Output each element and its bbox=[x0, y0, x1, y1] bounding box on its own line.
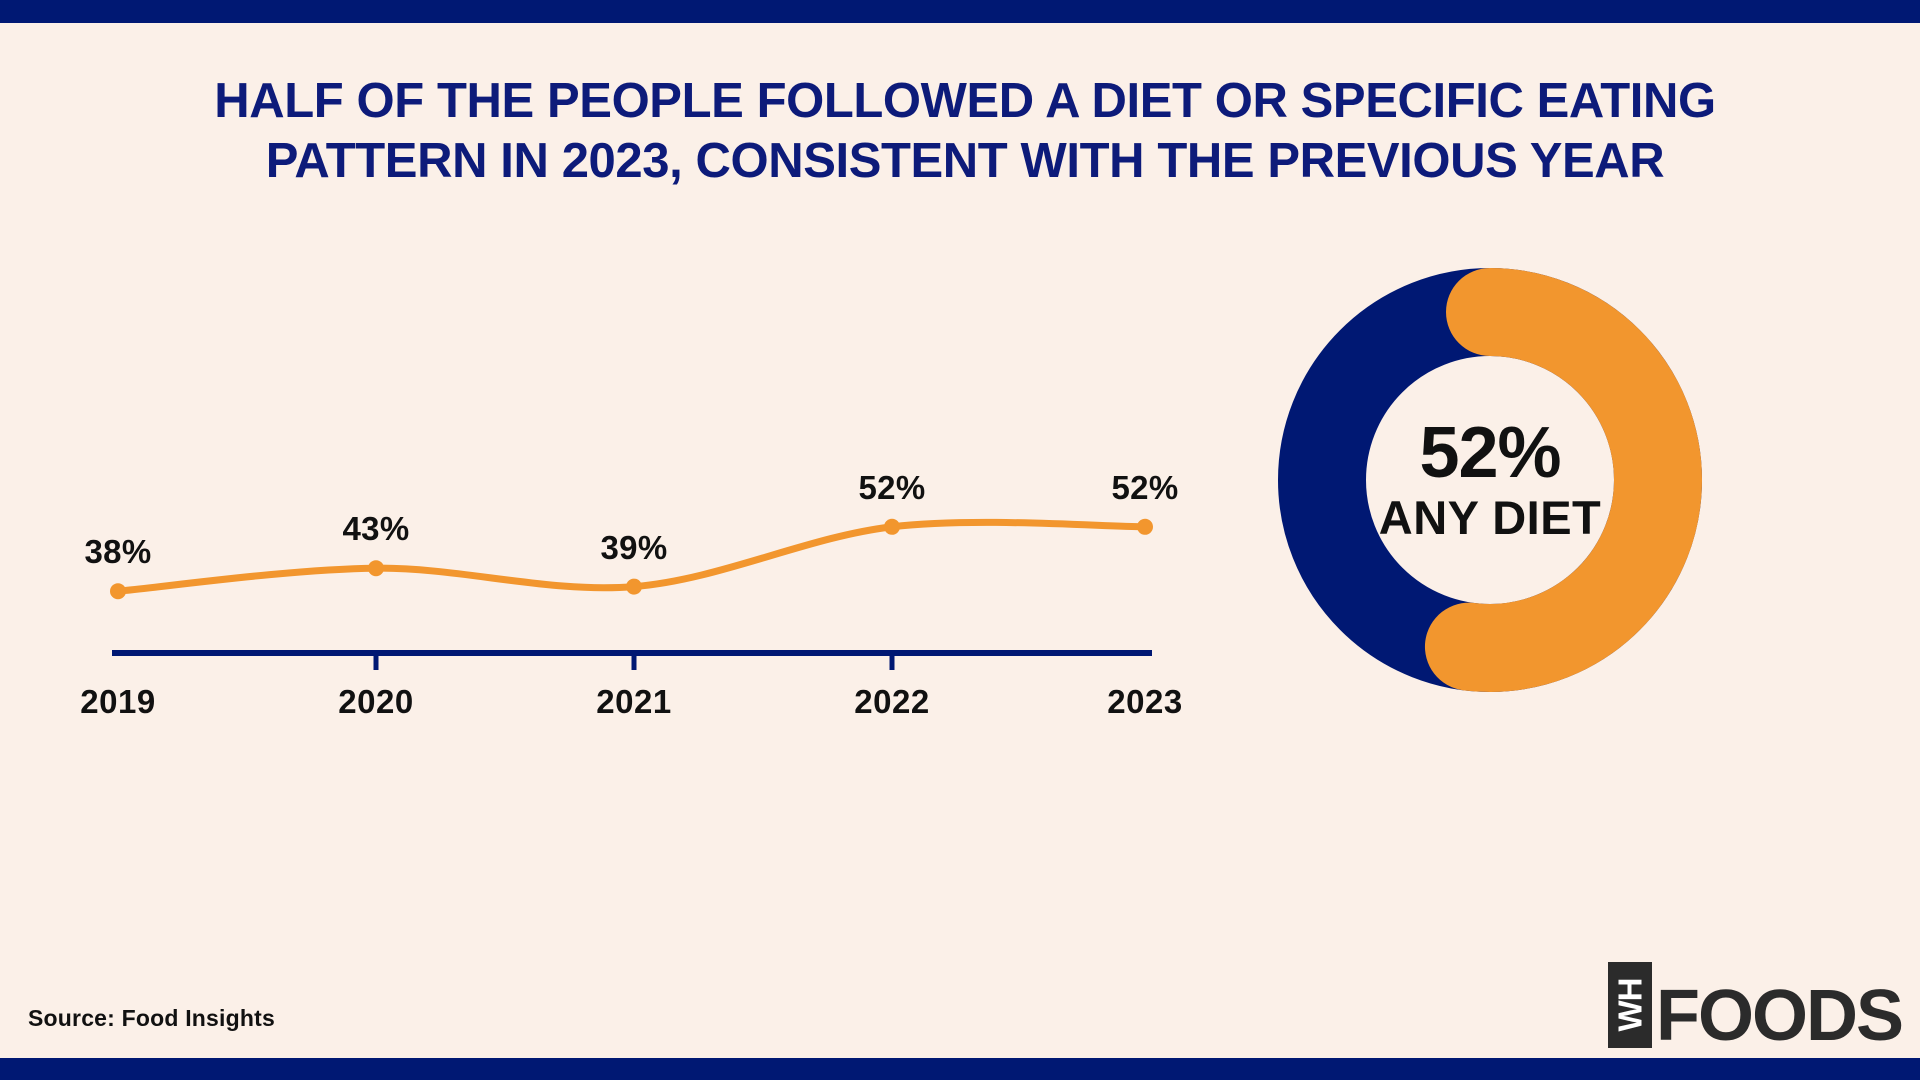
line-point-label: 52% bbox=[1112, 469, 1179, 507]
x-axis-label: 2022 bbox=[854, 683, 929, 721]
donut-chart-svg bbox=[1268, 258, 1712, 702]
x-axis-label: 2020 bbox=[338, 683, 413, 721]
line-chart-axis-labels: 20192020202120222023 bbox=[70, 655, 1200, 705]
top-accent-bar bbox=[0, 0, 1920, 23]
x-axis-label: 2021 bbox=[596, 683, 671, 721]
logo-mark-box: WH bbox=[1608, 962, 1652, 1048]
logo-wordmark: FOODS bbox=[1656, 986, 1902, 1048]
source-note: Source: Food Insights bbox=[28, 1005, 275, 1032]
donut-chart: 52% ANY DIET bbox=[1268, 258, 1712, 702]
line-point-label: 43% bbox=[343, 510, 410, 548]
title-line-2: PATTERN IN 2023, CONSISTENT WITH THE PRE… bbox=[60, 132, 1870, 192]
line-chart: 38%43%39%52%52% 20192020202120222023 bbox=[70, 370, 1200, 710]
page-title: HALF OF THE PEOPLE FOLLOWED A DIET OR SP… bbox=[60, 72, 1870, 192]
line-point-label: 52% bbox=[859, 469, 926, 507]
x-axis-label: 2019 bbox=[80, 683, 155, 721]
line-chart-value-labels: 38%43%39%52%52% bbox=[70, 370, 1200, 655]
wh-foods-logo: WH FOODS bbox=[1608, 962, 1902, 1048]
line-point-label: 38% bbox=[85, 533, 152, 571]
title-line-1: HALF OF THE PEOPLE FOLLOWED A DIET OR SP… bbox=[60, 72, 1870, 132]
bottom-accent-bar bbox=[0, 1058, 1920, 1080]
x-axis-label: 2023 bbox=[1107, 683, 1182, 721]
logo-mark-text: WH bbox=[1611, 979, 1649, 1032]
line-point-label: 39% bbox=[601, 529, 668, 567]
donut-segment-any-diet bbox=[1469, 312, 1658, 648]
